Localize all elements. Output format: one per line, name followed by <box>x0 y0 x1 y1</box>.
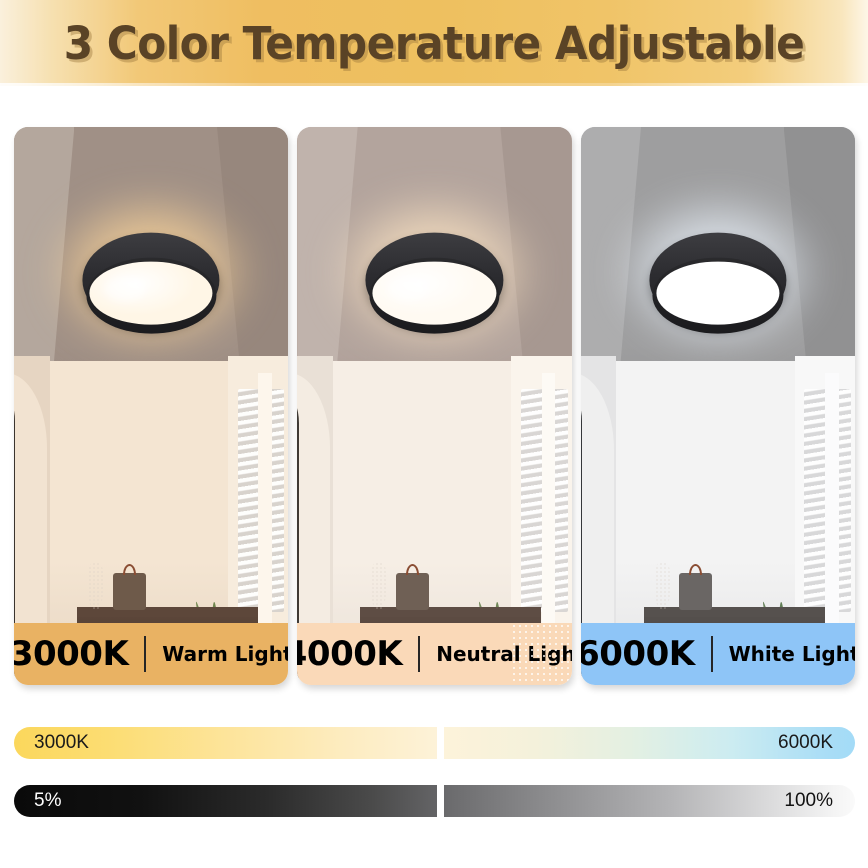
dimming-bar-left-segment: 5% <box>14 785 437 817</box>
sideboard-top <box>77 607 258 617</box>
badge-divider <box>418 636 420 672</box>
dimming-start-label: 5% <box>34 790 61 812</box>
color-temperature-card-white[interactable]: 6000K White Light <box>581 127 855 685</box>
cct-start-label: 3000K <box>34 732 89 754</box>
sideboard-top <box>644 607 825 617</box>
spec-bars: 3000K 6000K 5% 100% <box>14 727 855 817</box>
ceiling-light-fixture <box>83 233 220 328</box>
decor-vase <box>371 562 386 609</box>
cct-bar-right-segment: 6000K <box>444 727 855 759</box>
dimming-bar[interactable]: 5% 100% <box>14 785 855 817</box>
decor-basket <box>396 573 429 609</box>
badge-kelvin-value: 4000K <box>297 634 402 674</box>
dimming-end-label: 100% <box>784 790 833 812</box>
dimming-bar-right-segment: 100% <box>444 785 855 817</box>
badge-divider <box>144 636 146 672</box>
lamp-highlight <box>388 277 429 302</box>
decor-vase <box>655 562 670 609</box>
decor-basket <box>679 573 712 609</box>
cct-end-label: 6000K <box>778 732 833 754</box>
color-temperature-card-warm[interactable]: 3000K Warm Light <box>14 127 288 685</box>
sideboard-top <box>360 607 541 617</box>
header-banner: 3 Color Temperature Adjustable <box>0 0 868 86</box>
decor-vase <box>88 562 103 609</box>
badge-warm: 3000K Warm Light <box>14 623 288 685</box>
lamp-highlight <box>671 277 712 302</box>
cct-bar-left-segment: 3000K <box>14 727 437 759</box>
badge-neutral: 4000K Neutral Light <box>297 623 571 685</box>
room-scene-white <box>581 127 855 685</box>
ceiling-light-fixture <box>366 233 503 328</box>
badge-light-name: White Light <box>729 642 855 666</box>
badge-light-name: Neutral Light <box>436 642 571 666</box>
decor-basket <box>113 573 146 609</box>
color-temperature-card-row: 3000K Warm Light <box>14 127 855 685</box>
badge-kelvin-value: 6000K <box>581 634 695 674</box>
page-title: 3 Color Temperature Adjustable <box>26 0 842 86</box>
product-infographic: 3 Color Temperature Adjustable <box>0 0 868 868</box>
badge-white: 6000K White Light <box>581 623 855 685</box>
lamp-highlight <box>105 277 146 302</box>
badge-kelvin-value: 3000K <box>14 634 128 674</box>
badge-light-name: Warm Light <box>162 642 288 666</box>
ceiling-light-fixture <box>649 233 786 328</box>
color-temperature-card-neutral[interactable]: 4000K Neutral Light <box>297 127 571 685</box>
color-temperature-bar[interactable]: 3000K 6000K <box>14 727 855 759</box>
room-scene-warm <box>14 127 288 685</box>
room-scene-neutral <box>297 127 571 685</box>
badge-divider <box>711 636 713 672</box>
